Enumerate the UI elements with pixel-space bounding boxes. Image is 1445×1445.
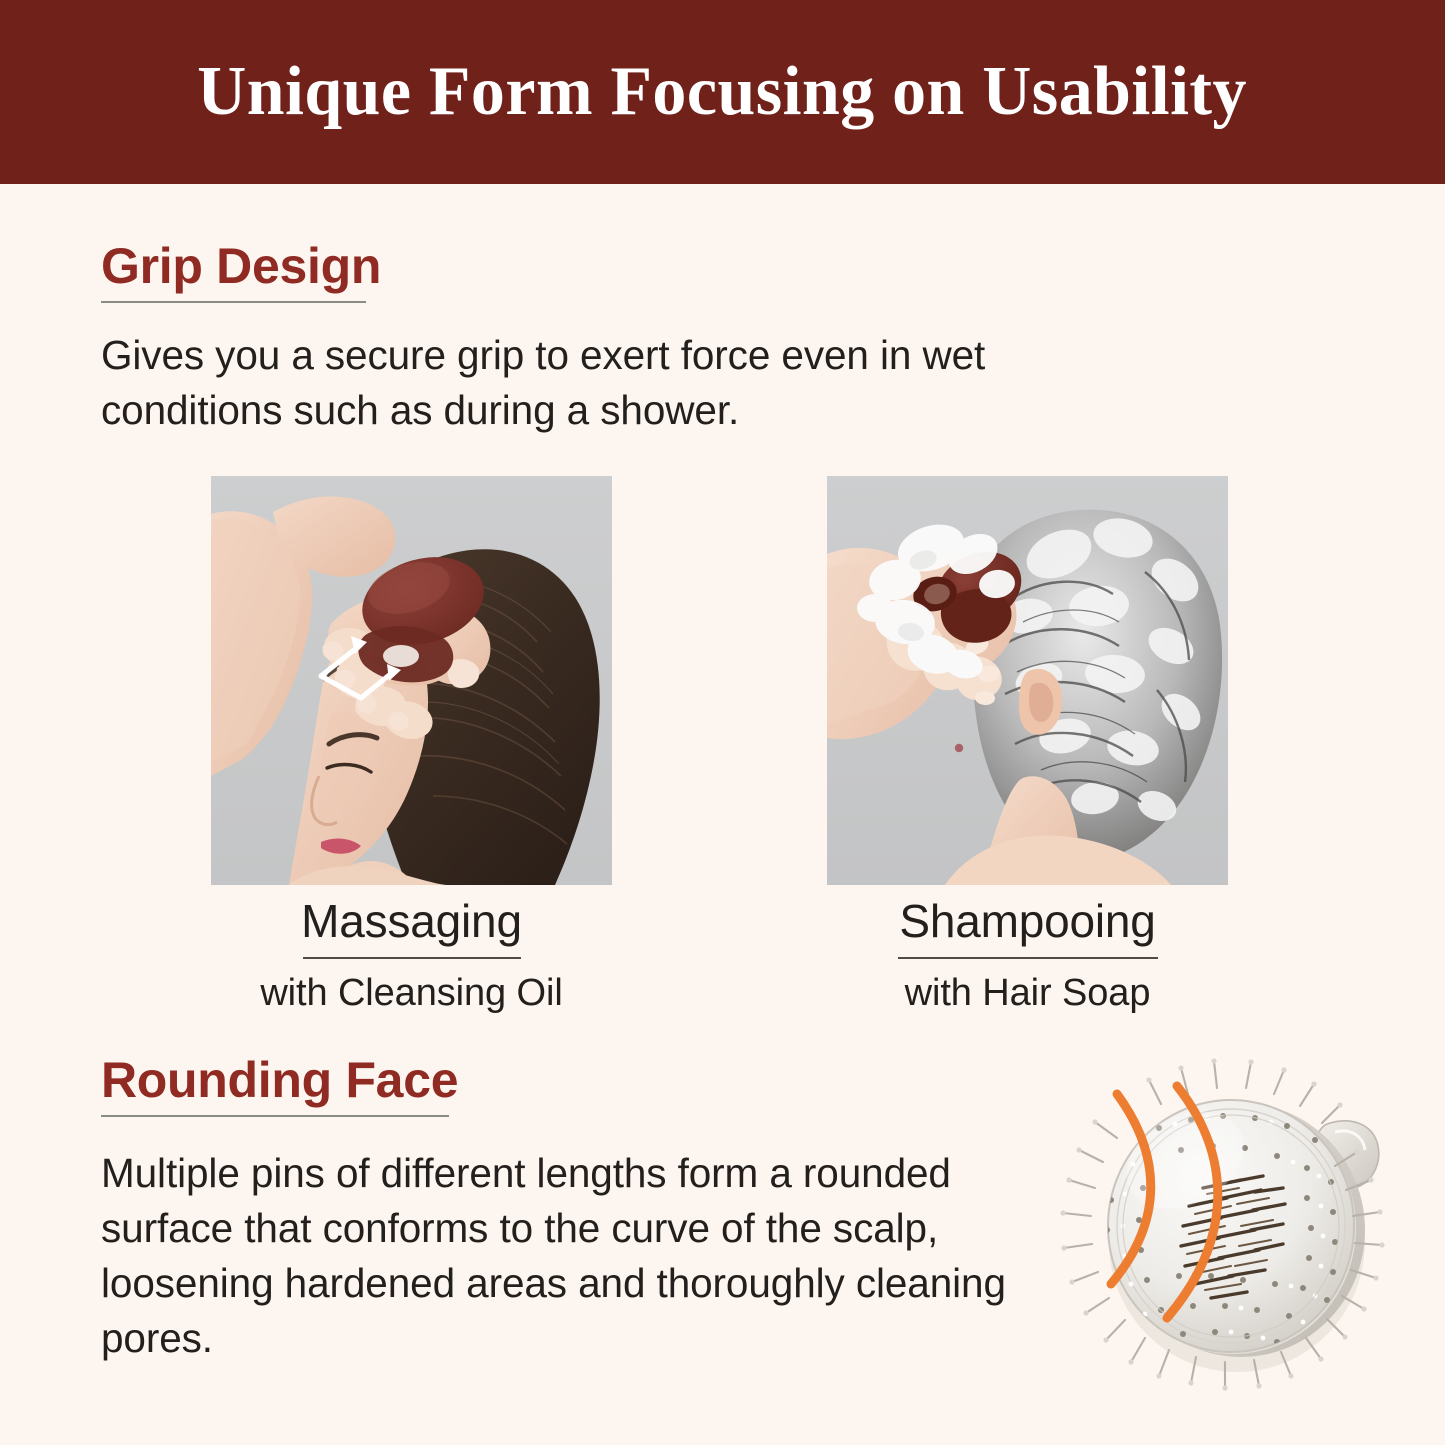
shampooing-caption: Shampooing with Hair Soap bbox=[827, 893, 1228, 1017]
heading-underline bbox=[101, 1115, 449, 1117]
caption-divider bbox=[898, 957, 1158, 959]
scalp-brush-product-photo bbox=[1055, 1030, 1445, 1420]
section-heading-rounding-face: Rounding Face bbox=[101, 1051, 458, 1117]
section-body-rounding-face: Multiple pins of different lengths form … bbox=[101, 1146, 1031, 1366]
section-heading-rounding-face-label: Rounding Face bbox=[101, 1052, 458, 1108]
shampooing-caption-title: Shampooing bbox=[827, 893, 1228, 949]
section-body-grip-design: Gives you a secure grip to exert force e… bbox=[101, 328, 1161, 438]
massaging-caption: Massaging with Cleansing Oil bbox=[211, 893, 612, 1017]
section-heading-grip-design: Grip Design bbox=[101, 237, 381, 303]
massaging-caption-subtitle: with Cleansing Oil bbox=[211, 969, 612, 1017]
page-title: Unique Form Focusing on Usability bbox=[198, 52, 1248, 132]
massaging-photo bbox=[211, 476, 612, 885]
header-band: Unique Form Focusing on Usability bbox=[0, 0, 1445, 184]
section-heading-grip-design-label: Grip Design bbox=[101, 238, 381, 294]
caption-divider bbox=[303, 957, 521, 959]
shampooing-photo bbox=[827, 476, 1228, 885]
shampooing-caption-subtitle: with Hair Soap bbox=[827, 969, 1228, 1017]
heading-underline bbox=[101, 301, 366, 303]
massaging-caption-title: Massaging bbox=[211, 893, 612, 949]
